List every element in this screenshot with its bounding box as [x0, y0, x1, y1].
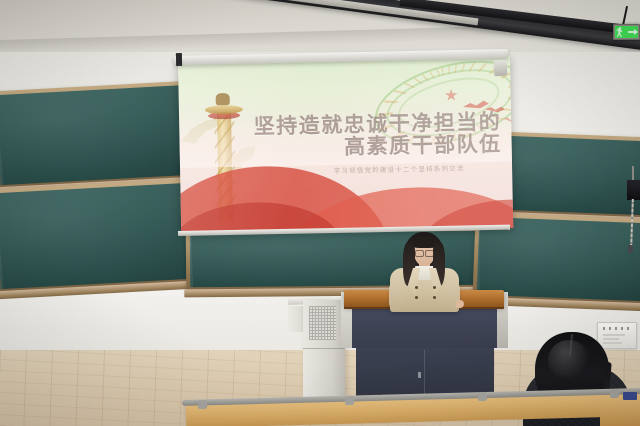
- desk-object[interactable]: [623, 392, 637, 400]
- glasses-icon: [415, 250, 434, 255]
- wall-speaker-device[interactable]: [627, 180, 640, 200]
- control-panel-label-line: [603, 342, 622, 344]
- blackboard-left-upper: [0, 81, 197, 190]
- coat-button: [415, 296, 418, 299]
- control-panel-label-line: [603, 338, 619, 340]
- projector-screen: 坚持造就忠诚干净担当的 高素质干部队伍 学习领悟党的建设十二个坚持系列交流: [178, 56, 513, 234]
- blackboard-surface: [0, 85, 192, 185]
- screen-glare: [178, 56, 513, 234]
- control-panel-buttons[interactable]: [603, 327, 633, 330]
- desk-rail-bracket: [610, 389, 619, 398]
- exit-sign-face: [615, 26, 638, 38]
- lectern-body: [352, 308, 497, 348]
- control-panel-label-line: [603, 334, 625, 336]
- desk-rail-bracket: [198, 400, 207, 409]
- coat-button: [433, 296, 436, 299]
- lectern-door-handle[interactable]: [418, 372, 421, 378]
- blackboard-left-lower: [0, 179, 197, 294]
- desk-rail-bracket: [478, 392, 487, 401]
- desk-rail-bracket: [345, 396, 354, 405]
- student-desk-right-section[interactable]: [600, 398, 640, 426]
- cabinet-panel-seam: [303, 348, 345, 349]
- classroom-photo: 坚持造就忠诚干净担当的 高素质干部队伍 学习领悟党的建设十二个坚持系列交流: [0, 0, 640, 426]
- coat-button: [415, 286, 418, 289]
- wall-control-panel[interactable]: [597, 322, 637, 349]
- exit-sign: [613, 24, 640, 40]
- speaker-arm-left: [389, 282, 403, 310]
- screen-roller-end-cap: [176, 53, 182, 66]
- arrow-right-icon: [628, 31, 637, 33]
- screen-mount-bracket: [493, 60, 507, 77]
- coat-button: [433, 286, 436, 289]
- running-man-icon: [616, 27, 623, 37]
- blackboard-surface: [0, 183, 192, 289]
- speaker-hand: [455, 300, 464, 308]
- pull-cord-weight[interactable]: [628, 245, 633, 253]
- cabinet-vent-grille: [309, 306, 336, 340]
